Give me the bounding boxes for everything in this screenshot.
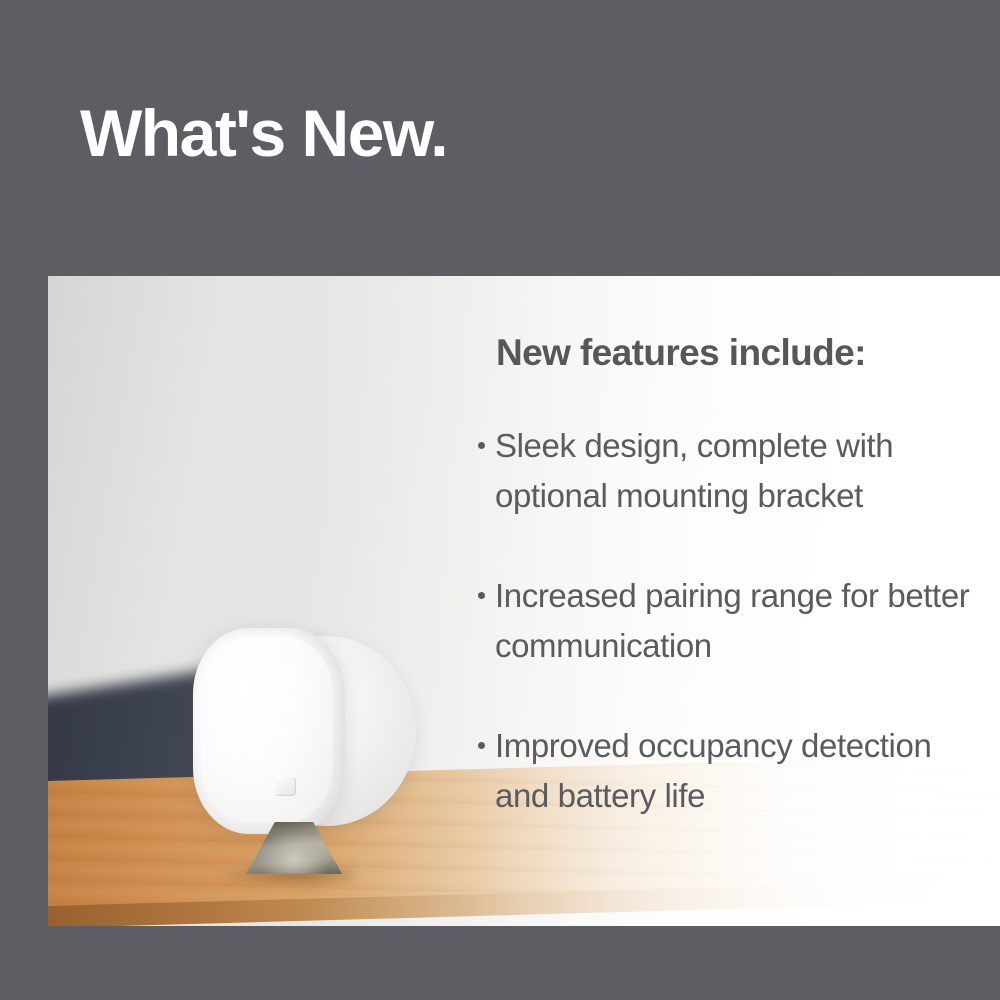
bullet-icon <box>478 592 485 599</box>
page-title: What's New. <box>80 97 447 169</box>
feature-list-heading: New features include: <box>496 331 978 375</box>
list-item: Increased pairing range for better commu… <box>448 571 978 671</box>
list-item: Sleek design, complete with optional mou… <box>448 421 978 521</box>
page-root: What's New. New features include: Sleek … <box>0 0 1000 1000</box>
list-item-label: Sleek design, complete with optional mou… <box>495 427 893 514</box>
sensor-face-panel <box>202 637 333 823</box>
feature-list-overlay: New features include: Sleek design, comp… <box>448 331 978 821</box>
ecobee-logo-icon <box>274 776 296 796</box>
product-photo-card: New features include: Sleek design, comp… <box>48 276 1000 926</box>
bullet-icon <box>478 442 485 449</box>
bullet-icon <box>478 742 485 749</box>
sensor-body-front <box>193 628 345 834</box>
list-item-label: Improved occupancy detection and battery… <box>495 727 931 814</box>
list-item-label: Increased pairing range for better commu… <box>495 577 969 664</box>
list-item: Improved occupancy detection and battery… <box>448 721 978 821</box>
ecobee-smart-sensor-product <box>178 626 428 926</box>
